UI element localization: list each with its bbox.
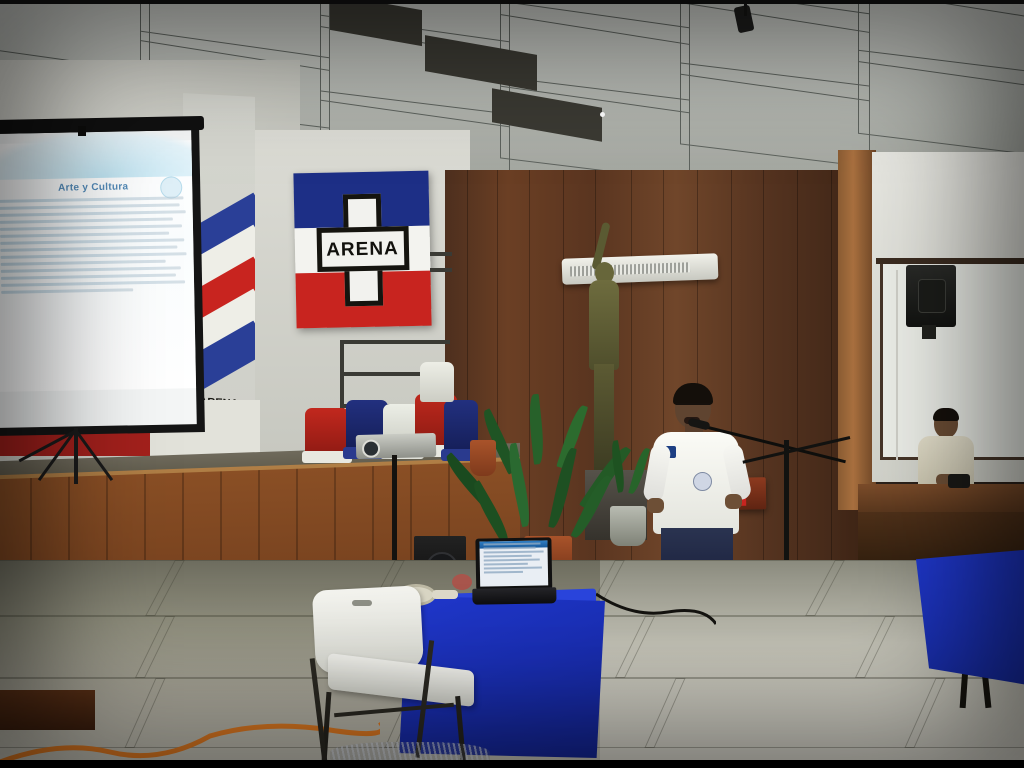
laptop[interactable] [471,537,556,610]
potted-plant-small [604,440,648,550]
laptop-screen[interactable] [479,540,548,586]
chair-cross-brace [334,703,454,717]
laptop-lid [475,537,552,590]
screen-case-hook [78,126,86,136]
ledge-object [948,474,970,488]
pa-speaker [906,265,956,327]
presenter-left-hand [647,498,664,513]
laptop-keyboard-base[interactable] [472,587,556,604]
presentation-slide: Arte y Cultura [0,140,196,392]
wall-rail-3 [342,340,450,344]
arena-flag: ARENA [293,171,431,329]
presenter-right-hand [725,494,742,509]
seated-hair [933,408,959,421]
conference-hall-photo: ARENA ARENA [0,0,1024,768]
projection-screen: Arte y Cultura [0,124,205,436]
flag-cross-emblem: ARENA [315,193,409,307]
presenter-eyeglasses [676,403,710,412]
photo-border-top [0,0,1024,4]
chair-back-handle [352,600,372,606]
wall-cable [896,270,898,460]
photo-border-bottom [0,760,1024,768]
presenter-chest-emblem [693,472,712,491]
slide-header-graphic [0,130,197,180]
right-draped-table [916,548,1024,688]
white-folding-chair[interactable] [310,588,478,768]
presenter-hair [673,383,713,405]
wall-rail-1 [430,252,452,256]
chair-seat [328,653,474,707]
stage-chair-white-back [420,362,454,402]
wall-rail-2 [430,268,452,272]
terracotta-pot-left [470,440,496,476]
pa-speaker-bracket [922,325,936,339]
screen-tripod-stand [18,428,168,490]
projection-screen-surface: Arte y Cultura [0,130,197,428]
slide-body-text [0,196,189,298]
whiteboard-top-rail [876,258,1024,264]
flag-arena-text: ARENA [326,238,399,262]
wall-column [838,150,876,510]
floor-signal-cable [596,590,716,630]
